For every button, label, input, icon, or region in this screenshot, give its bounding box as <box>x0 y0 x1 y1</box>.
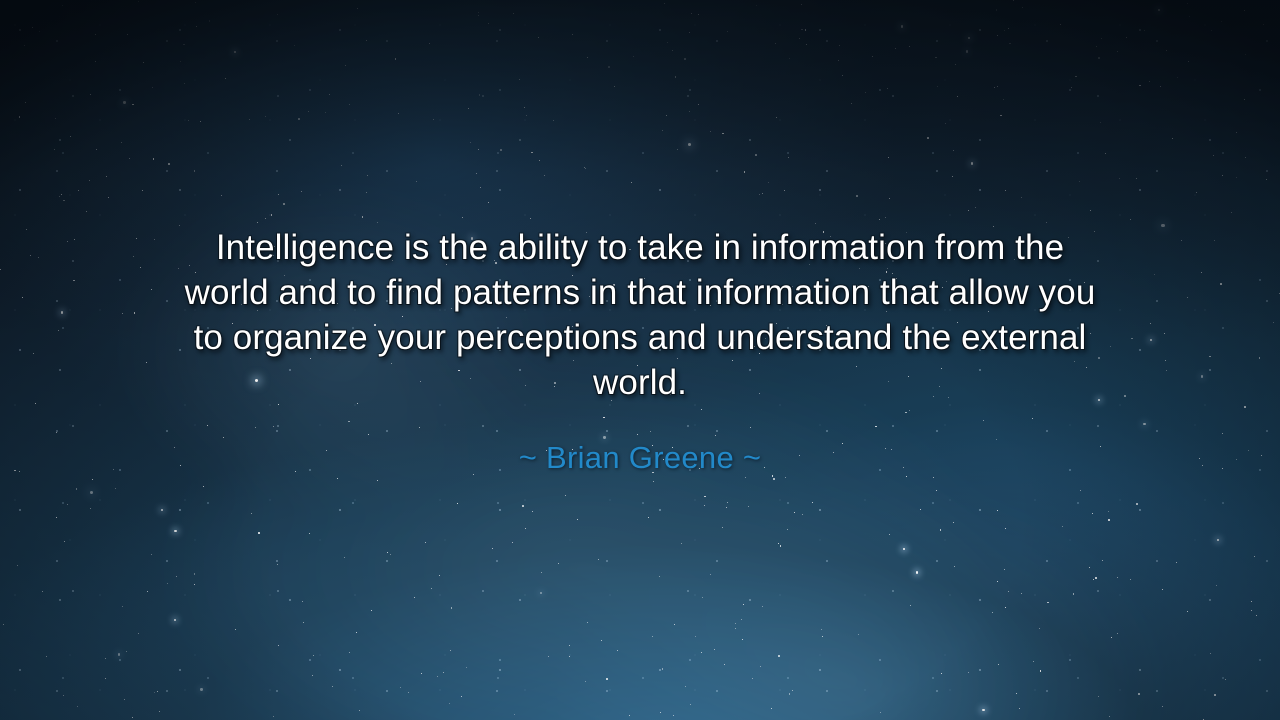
quote-line-1: Intelligence is the ability to take in i… <box>105 225 1175 270</box>
quote-line-3: to organize your perceptions and underst… <box>105 315 1175 360</box>
quote-line-4: world. <box>105 360 1175 405</box>
text-overlay: Intelligence is the ability to take in i… <box>0 0 1280 720</box>
quote-attribution: ~ Brian Greene ~ <box>105 405 1175 477</box>
quote-block: Intelligence is the ability to take in i… <box>105 225 1175 477</box>
quote-line-2: world and to find patterns in that infor… <box>105 270 1175 315</box>
quote-card: Intelligence is the ability to take in i… <box>0 0 1280 720</box>
